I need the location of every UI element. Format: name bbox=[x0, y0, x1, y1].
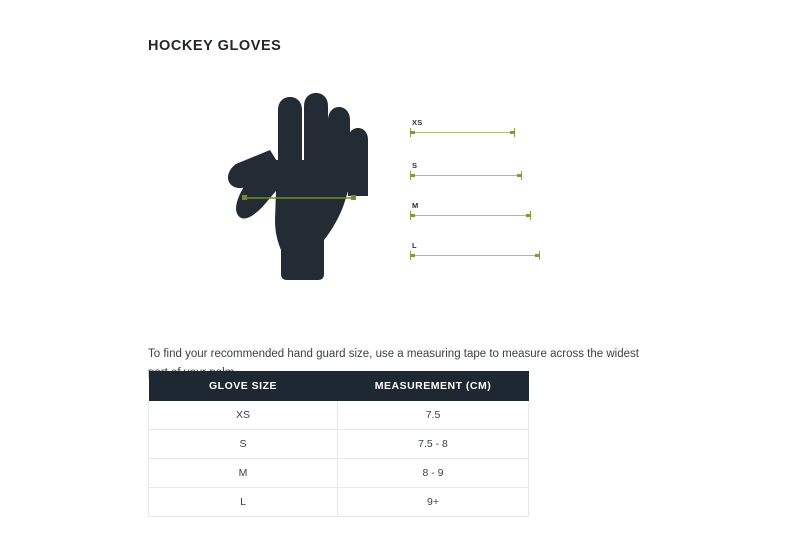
ruler-xs: XS bbox=[410, 118, 515, 144]
table-header-row: GLOVE SIZE MEASUREMENT (cm) bbox=[149, 371, 529, 401]
size-rulers: XS S M bbox=[410, 118, 560, 278]
cell-measurement: 7.5 bbox=[338, 401, 529, 430]
size-chart-table: GLOVE SIZE MEASUREMENT (cm) XS 7.5 S 7.5… bbox=[148, 371, 529, 517]
ruler-label-s: S bbox=[412, 161, 417, 170]
size-guide-page: HOCKEY GLOVES bbox=[0, 0, 800, 533]
cell-size: M bbox=[149, 459, 338, 488]
glove-svg bbox=[214, 88, 374, 288]
ruler-nub-left-l bbox=[410, 254, 415, 257]
ruler-label-l: L bbox=[412, 241, 417, 250]
ruler-nub-left-s bbox=[410, 174, 415, 177]
ruler-m: M bbox=[410, 201, 531, 227]
ruler-line-s bbox=[410, 175, 522, 176]
table-head: GLOVE SIZE MEASUREMENT (cm) bbox=[149, 371, 529, 401]
glove-illustration-area: XS S M bbox=[148, 88, 558, 288]
cell-measurement: 8 - 9 bbox=[338, 459, 529, 488]
glove-shape bbox=[228, 93, 368, 280]
ruler-label-xs: XS bbox=[412, 118, 423, 127]
table-row: S 7.5 - 8 bbox=[149, 430, 529, 459]
ruler-s: S bbox=[410, 161, 522, 187]
column-header-glove-size: GLOVE SIZE bbox=[149, 371, 338, 401]
ruler-nub-right-xs bbox=[510, 131, 515, 134]
cell-size: L bbox=[149, 488, 338, 517]
ruler-nub-right-s bbox=[517, 174, 522, 177]
ruler-nub-left-xs bbox=[410, 131, 415, 134]
hand-glove-silhouette bbox=[214, 88, 374, 288]
ruler-line-l bbox=[410, 255, 540, 256]
table-row: XS 7.5 bbox=[149, 401, 529, 430]
ruler-nub-right-l bbox=[535, 254, 540, 257]
ruler-nub-left-m bbox=[410, 214, 415, 217]
ruler-line-xs bbox=[410, 132, 515, 133]
cell-measurement: 9+ bbox=[338, 488, 529, 517]
ruler-nub-right-m bbox=[526, 214, 531, 217]
ruler-line-m bbox=[410, 215, 531, 216]
cell-measurement: 7.5 - 8 bbox=[338, 430, 529, 459]
table-row: L 9+ bbox=[149, 488, 529, 517]
table-body: XS 7.5 S 7.5 - 8 M 8 - 9 L 9+ bbox=[149, 401, 529, 517]
ruler-l: L bbox=[410, 241, 540, 267]
page-title: HOCKEY GLOVES bbox=[148, 38, 281, 54]
cell-size: S bbox=[149, 430, 338, 459]
cell-size: XS bbox=[149, 401, 338, 430]
column-header-measurement: MEASUREMENT (cm) bbox=[338, 371, 529, 401]
table-row: M 8 - 9 bbox=[149, 459, 529, 488]
ruler-label-m: M bbox=[412, 201, 419, 210]
